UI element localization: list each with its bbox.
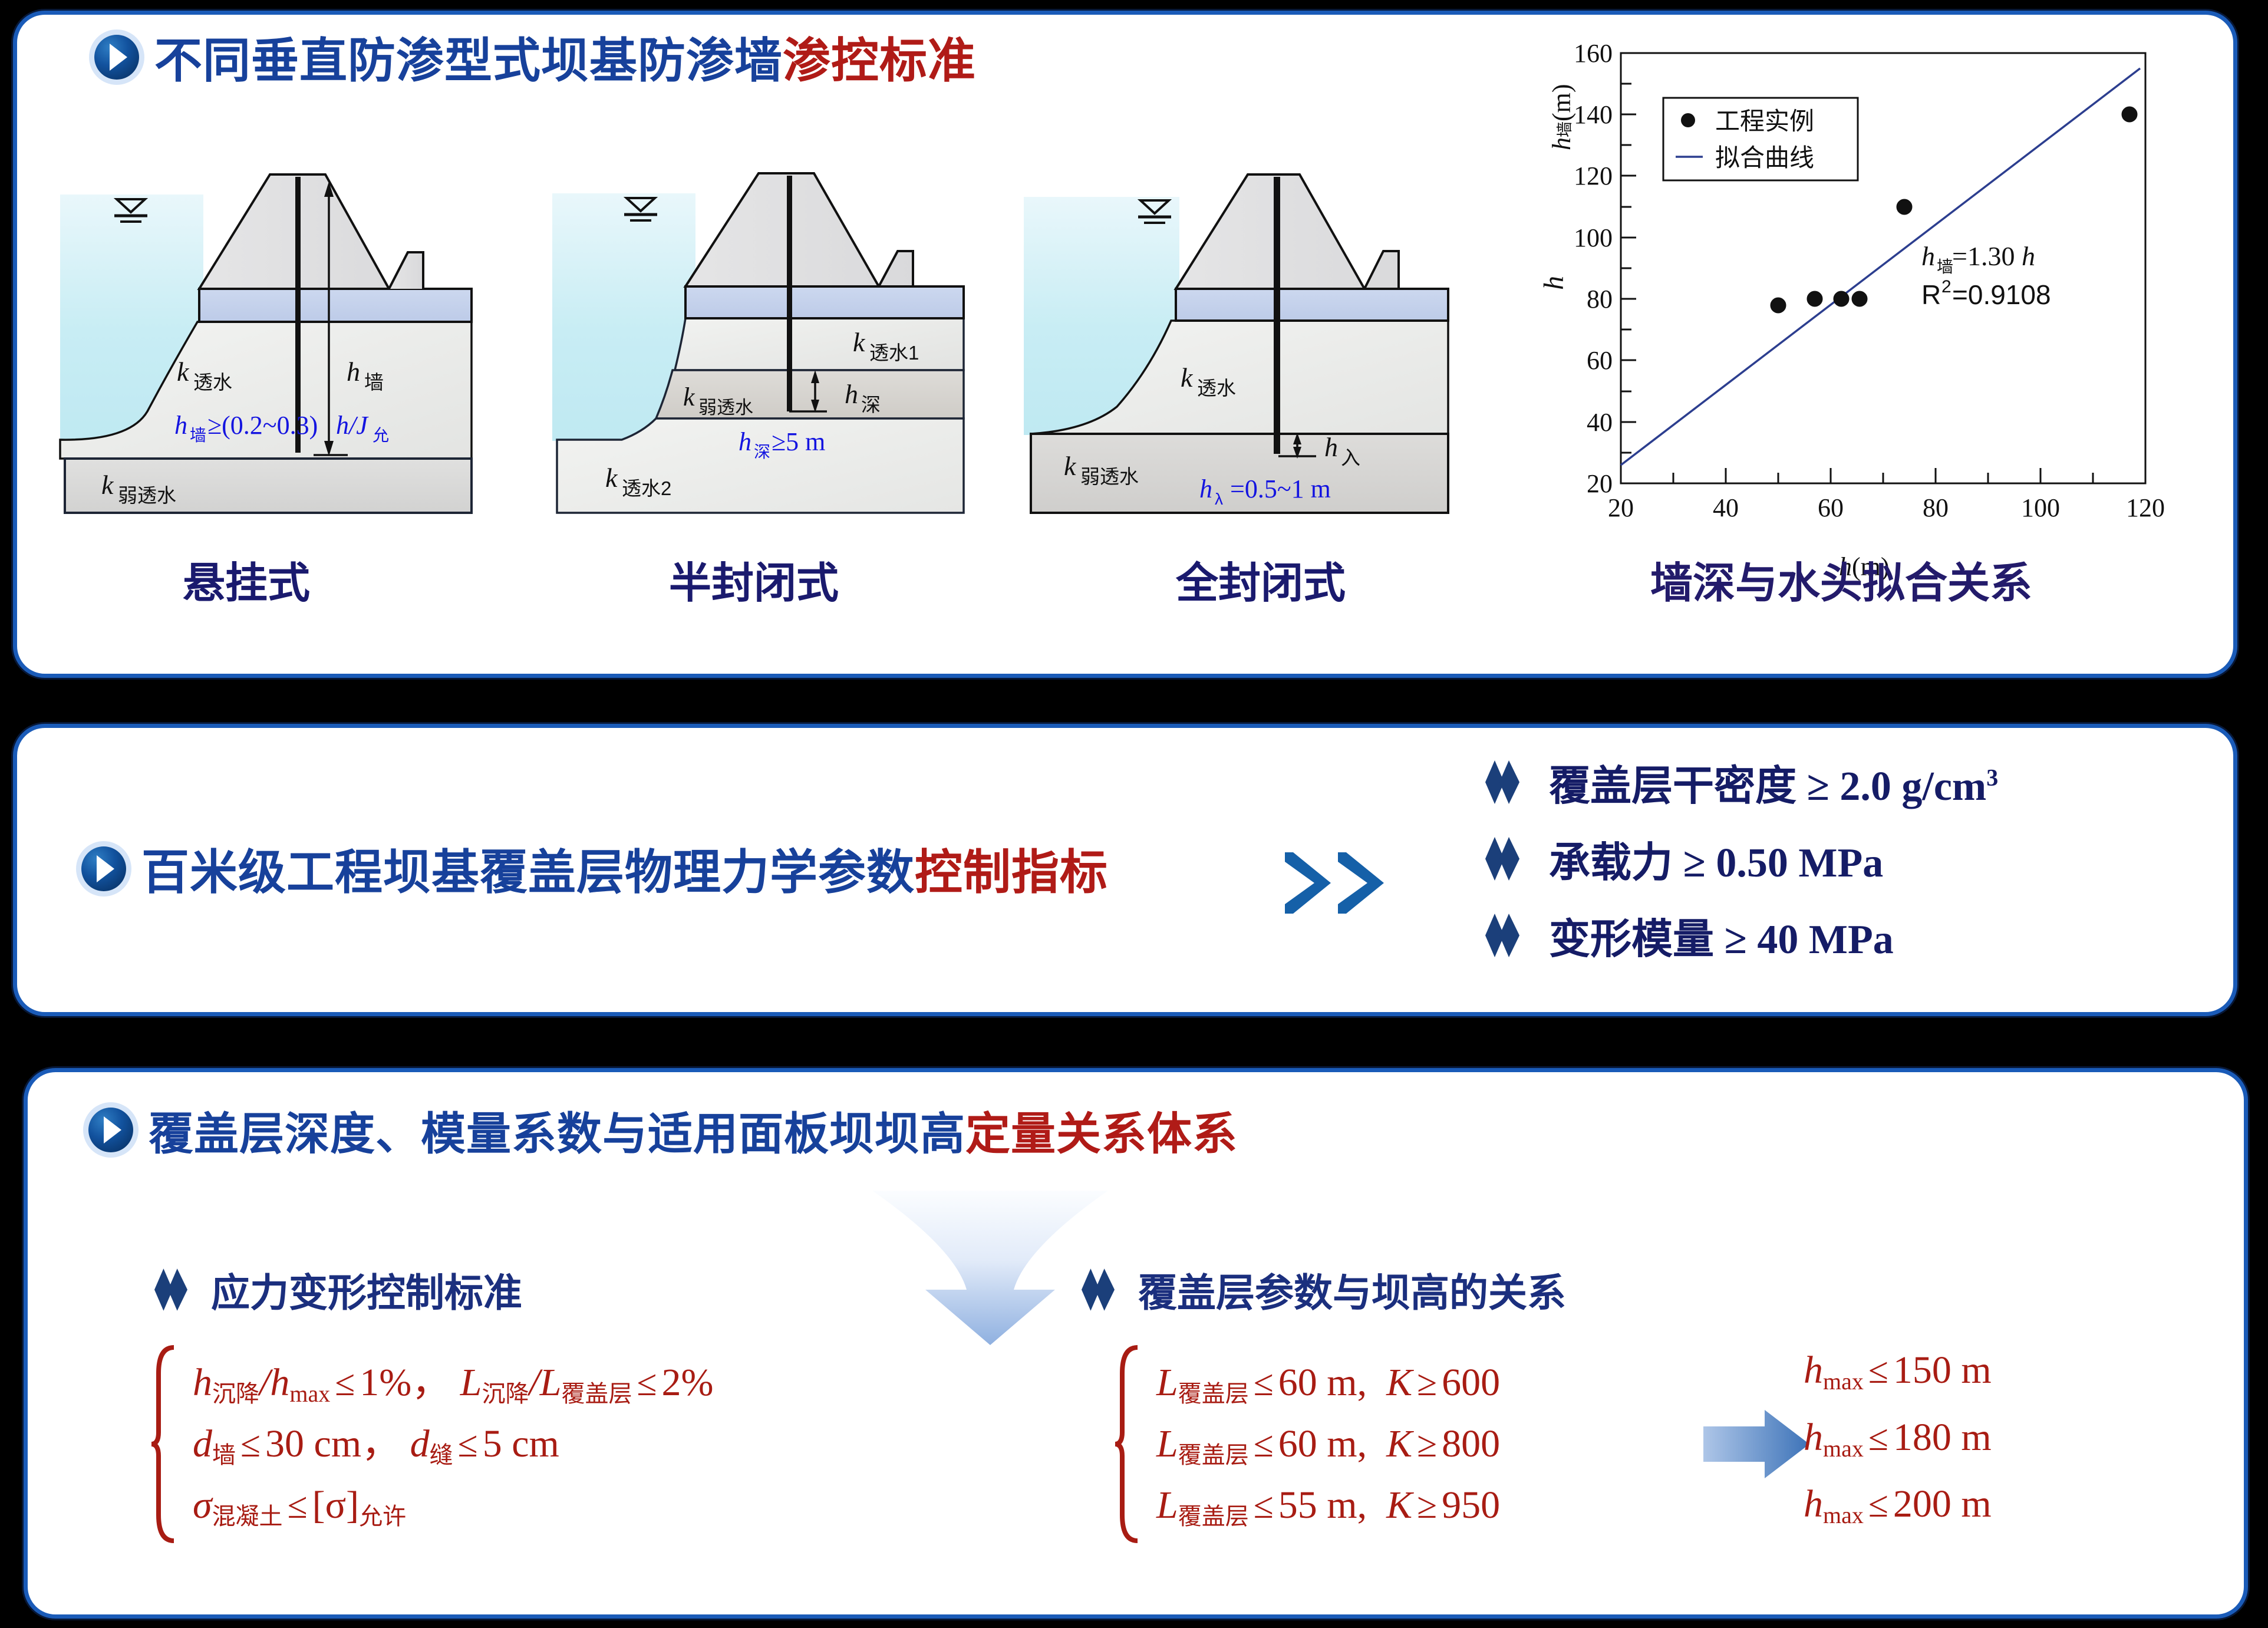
- svg-text:h: h: [739, 427, 751, 456]
- wall-depth-head-scatter-chart: 204060 80100120 204060 80100120 140160: [1532, 35, 2187, 519]
- panel3-heading: 覆盖层深度、模量系数与适用面板坝坝高 定量关系体系: [88, 1098, 1238, 1162]
- svg-text:≥5 m: ≥5 m: [772, 427, 825, 456]
- result-line: hmax≤200 m: [1804, 1471, 1992, 1538]
- svg-text:140: 140: [1574, 100, 1613, 129]
- panel3-heading-red: 定量关系体系: [965, 1098, 1238, 1162]
- svg-text:墙: 墙: [364, 371, 384, 393]
- svg-text:60: 60: [1587, 346, 1613, 375]
- subheading-stress-deformation: 应力变形控制标准: [154, 1261, 522, 1318]
- svg-text:透水2: 透水2: [622, 477, 671, 499]
- svg-text:弱透水: 弱透水: [1080, 466, 1139, 487]
- svg-text:弱透水: 弱透水: [118, 485, 176, 506]
- svg-text:h: h: [1199, 474, 1212, 503]
- svg-text:h: h: [1324, 432, 1338, 462]
- svg-text:2: 2: [1941, 277, 1951, 296]
- diamond-bullet-icon: [1082, 1268, 1115, 1311]
- indicator-label: 变形模量 ≥ 40 MPa: [1549, 906, 1894, 965]
- diamond-bullet-icon: [154, 1268, 187, 1311]
- diamond-bullet-icon: [1485, 837, 1519, 881]
- svg-text:20: 20: [1587, 469, 1613, 498]
- svg-text:≥(0.2~0.3): ≥(0.2~0.3): [207, 411, 318, 440]
- panel1-heading-red: 渗控标准: [783, 22, 976, 91]
- arrow-circle-icon: [88, 1108, 133, 1152]
- svg-text:h: h: [1921, 241, 1935, 271]
- svg-text:h/J: h/J: [336, 411, 369, 440]
- svg-text:h: h: [2022, 241, 2035, 271]
- panel2-heading: 百米级工程坝基覆盖层物理力学参数 控制指标: [81, 834, 1108, 903]
- caption-suspended: 悬挂式: [183, 548, 310, 610]
- svg-text:120: 120: [2126, 493, 2165, 519]
- svg-text:R: R: [1921, 279, 1941, 310]
- caption-semi-enclosed: 半封闭式: [669, 548, 839, 610]
- arrow-circle-icon: [94, 35, 139, 80]
- formula-line: d墙≤30 cm， d缝≤5 cm: [193, 1413, 714, 1475]
- panel2-heading-blue: 百米级工程坝基覆盖层物理力学参数: [141, 834, 915, 903]
- panel1-heading: 不同垂直防渗型式坝基防渗墙 渗控标准: [94, 22, 976, 91]
- diamond-bullet-icon: [1485, 914, 1519, 957]
- svg-text:h: h: [1538, 276, 1570, 290]
- svg-text:k: k: [605, 463, 618, 493]
- svg-text:透水: 透水: [1197, 377, 1236, 399]
- dam-diagram-semi-enclosed: k 透水1 k 弱透水 h 深 k 透水2 h 深 ≥5 m: [551, 164, 971, 518]
- indicator-row: 承载力 ≥ 0.50 MPa: [1485, 820, 1998, 897]
- result-line: hmax≤150 m: [1804, 1337, 1992, 1404]
- svg-text:80: 80: [1923, 493, 1949, 519]
- svg-text:120: 120: [1574, 162, 1613, 190]
- svg-text:墙: 墙: [190, 426, 206, 444]
- svg-text:h: h: [845, 379, 858, 409]
- svg-text:透水1: 透水1: [869, 342, 919, 364]
- panel2-heading-red: 控制指标: [915, 834, 1108, 903]
- svg-text:k: k: [1181, 362, 1194, 393]
- overburden-formula-block: L覆盖层≤60 m, K≥600 L覆盖层≤60 m, K≥800 L覆盖层≤5…: [1114, 1344, 1500, 1544]
- indicator-sup: 3: [1986, 764, 1998, 790]
- caption-chart: 墙深与水头拟合关系: [1650, 548, 2032, 610]
- svg-text:k: k: [1064, 451, 1077, 481]
- panel1-heading-blue: 不同垂直防渗型式坝基防渗墙: [154, 22, 783, 91]
- chart-ylabel: h墙(m): [1547, 84, 1577, 150]
- subheading-label: 覆盖层参数与坝高的关系: [1138, 1261, 1566, 1318]
- svg-text:k: k: [853, 327, 866, 357]
- formula-line: σ混凝土≤[σ]允许: [193, 1475, 714, 1536]
- svg-text:h: h: [174, 411, 187, 440]
- formula-line: L覆盖层≤60 m, K≥800: [1156, 1413, 1500, 1475]
- svg-text:h: h: [347, 357, 360, 387]
- svg-text:深: 深: [754, 443, 770, 461]
- caption-fully-enclosed: 全封闭式: [1176, 548, 1346, 610]
- svg-text:40: 40: [1587, 408, 1613, 437]
- indicator-label: 承载力 ≥ 0.50 MPa: [1549, 829, 1883, 889]
- svg-text:160: 160: [1574, 39, 1613, 68]
- svg-text:透水: 透水: [193, 371, 232, 393]
- svg-text:k: k: [683, 383, 695, 411]
- legend-label-fit: 拟合曲线: [1715, 144, 1814, 172]
- legend-label-cases: 工程实例: [1715, 107, 1814, 135]
- stress-deformation-formula-block: h沉降/hmax≤1%， L沉降/L覆盖层≤2% d墙≤30 cm， d缝≤5 …: [150, 1344, 714, 1544]
- indicator-label: 覆盖层干密度 ≥ 2.0 g/cm: [1549, 764, 1986, 809]
- diamond-bullet-icon: [1485, 760, 1519, 804]
- result-line: hmax≤180 m: [1804, 1404, 1992, 1471]
- block-arrow-right-icon: [1703, 1409, 1809, 1479]
- indicator-row: 变形模量 ≥ 40 MPa: [1485, 897, 1998, 974]
- svg-text:80: 80: [1587, 285, 1613, 314]
- formula-line: L覆盖层≤55 m, K≥950: [1156, 1475, 1500, 1536]
- panel3-heading-blue: 覆盖层深度、模量系数与适用面板坝坝高: [149, 1098, 965, 1162]
- double-chevron-right-icon: [1280, 848, 1410, 918]
- svg-text:=0.9108: =0.9108: [1952, 279, 2051, 310]
- svg-text:100: 100: [1574, 223, 1613, 252]
- svg-text:墙: 墙: [1937, 258, 1953, 276]
- formula-line: L覆盖层≤60 m, K≥600: [1156, 1352, 1500, 1413]
- svg-text:40: 40: [1713, 493, 1739, 519]
- slide-root: 不同垂直防渗型式坝基防渗墙 渗控标准: [0, 0, 2268, 1628]
- left-brace: [150, 1344, 177, 1544]
- svg-text:=0.5~1 m: =0.5~1 m: [1230, 474, 1331, 503]
- subheading-overburden-dam-height: 覆盖层参数与坝高的关系: [1082, 1261, 1566, 1318]
- svg-text:λ: λ: [1215, 490, 1223, 508]
- svg-text:=1.30: =1.30: [1952, 241, 2015, 271]
- arrow-circle-icon: [81, 846, 126, 891]
- svg-text:k: k: [101, 470, 114, 500]
- result-list: hmax≤150 m hmax≤180 m hmax≤200 m: [1804, 1337, 1992, 1538]
- svg-text:100: 100: [2021, 493, 2060, 519]
- subheading-label: 应力变形控制标准: [211, 1261, 522, 1318]
- svg-text:深: 深: [861, 394, 881, 416]
- indicator-list: 覆盖层干密度 ≥ 2.0 g/cm3 承载力 ≥ 0.50 MPa 变形模量 ≥…: [1485, 744, 1998, 974]
- funnel-down-arrow-icon: [866, 1178, 1114, 1349]
- svg-text:允: 允: [372, 426, 389, 444]
- svg-text:60: 60: [1818, 493, 1844, 519]
- left-brace: [1114, 1344, 1141, 1544]
- dam-diagram-suspended: k 透水 h 墙 k 弱透水 h 墙 ≥(0.2~0.3) h/J 允: [59, 164, 479, 518]
- formula-line: h沉降/hmax≤1%， L沉降/L覆盖层≤2%: [193, 1352, 714, 1413]
- dam-diagram-fully-enclosed: k 透水 k 弱透水 h 入 h λ =0.5~1 m: [1023, 164, 1465, 518]
- svg-text:k: k: [177, 357, 190, 387]
- svg-text:入: 入: [1341, 447, 1360, 469]
- svg-text:弱透水: 弱透水: [698, 397, 753, 418]
- indicator-row: 覆盖层干密度 ≥ 2.0 g/cm3: [1485, 744, 1998, 820]
